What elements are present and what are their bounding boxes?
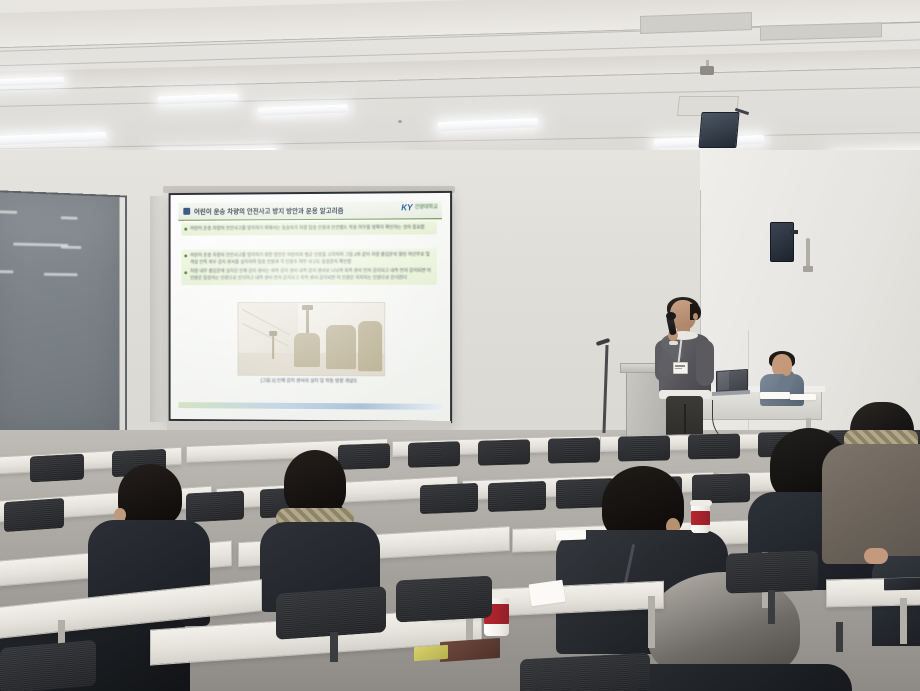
lecture-hall-photo: 어린이 운송 차량의 안전사고 방지 방안과 운용 알고리즘 KY 건양대학교 … (0, 0, 920, 691)
desk-leg (648, 596, 655, 648)
projection-screen: 어린이 운송 차량의 안전사고 방지 방안과 운용 알고리즘 KY 건양대학교 … (169, 191, 452, 423)
paper[interactable] (529, 580, 566, 607)
logo-mark: KY (401, 203, 412, 212)
speaker-bracket (790, 230, 798, 234)
wall-speaker-icon (770, 222, 794, 262)
slide-title: 어린이 운송 차량의 안전사고 방지 방안과 운용 알고리즘 (194, 206, 344, 216)
bullet-dot-icon (184, 255, 187, 258)
session-chair-person (754, 352, 816, 414)
ceiling-light (158, 94, 238, 105)
cup-lid (690, 500, 712, 506)
university-logo: KY 건양대학교 (401, 203, 438, 212)
whiteboard (0, 192, 120, 448)
screen-bottom-bar (167, 421, 451, 430)
logo-name: 건양대학교 (415, 205, 438, 210)
presenter-watch (669, 341, 678, 345)
presenter-shoulder (696, 340, 714, 386)
figure-seat (358, 321, 382, 371)
figure-sensor (302, 305, 313, 310)
chair[interactable] (618, 435, 670, 461)
chair[interactable] (4, 498, 64, 532)
chair[interactable] (396, 575, 492, 622)
slide-bullet-panel: 어린이 운송 차량의 안전사고를 방지하기 위한 방안은 어린이의 평균 신장을… (181, 248, 437, 284)
slide-bullet-panel: 어린이 운송 차량의 안전사고를 방지하기 위해서는 동승자가 차량 탑승 인원… (181, 221, 437, 235)
audience-person (262, 450, 392, 600)
paper (790, 394, 816, 400)
slide-bullet: 어린이 운송 차량의 안전사고를 방지하기 위한 방안은 어린이의 평균 신장을… (184, 252, 433, 266)
bullet-dot-icon (184, 228, 187, 231)
notebook[interactable] (414, 645, 448, 661)
person-hand (864, 548, 888, 564)
notebook[interactable] (884, 578, 920, 591)
coffee-cup[interactable] (690, 500, 712, 534)
figure-sensor (269, 331, 277, 336)
chair-post (330, 632, 338, 662)
slide-footer-bar (178, 402, 442, 410)
screen-shadow (150, 196, 166, 422)
paper (760, 392, 790, 399)
chair[interactable] (408, 441, 460, 468)
chair[interactable] (688, 434, 740, 460)
ceiling-light (258, 104, 348, 115)
chair[interactable] (488, 481, 546, 512)
notebook[interactable] (440, 638, 500, 662)
person-hand (782, 366, 791, 376)
figure-sensor-post (272, 333, 274, 359)
slide-bullet: 어린이 운송 차량의 안전사고를 방지하기 위해서는 동승자가 차량 탑승 인원… (184, 224, 433, 232)
cup-sleeve (691, 511, 710, 525)
slide-marker-icon (183, 208, 190, 215)
slide-figure (237, 302, 385, 376)
slide-figure-caption: [그림 2] 인체 감지 센서의 설치 및 작동 방향 개념도 (178, 377, 442, 384)
bullet-dot-icon (184, 271, 187, 274)
microphone-head (666, 312, 676, 320)
figure-seat (294, 333, 320, 367)
chair-post (836, 622, 843, 652)
wall-pipe-cap (803, 266, 813, 272)
presenter-ear (693, 313, 698, 320)
slide-bullet: 차량 내부 출입문에 설치된 인체 감지 센서는 외측 감지 센서 내측 감지 … (184, 268, 433, 282)
paper[interactable] (556, 529, 586, 540)
chair[interactable] (548, 437, 600, 463)
badge-text-line (675, 368, 682, 369)
ceiling-speaker-icon (698, 112, 739, 148)
badge-text-line (675, 365, 685, 367)
desk-leg (900, 598, 907, 644)
slide-bullet-text: 어린이 운송 차량의 안전사고를 방지하기 위해서는 동승자가 차량 탑승 인원… (190, 224, 424, 232)
chair[interactable] (420, 483, 478, 514)
presenter (646, 300, 720, 446)
ceiling-light (0, 132, 106, 145)
projector-icon (700, 66, 714, 75)
chair-post (768, 590, 775, 624)
chair[interactable] (0, 640, 96, 691)
ceiling-light (438, 118, 538, 131)
presentation-slide: 어린이 운송 차량의 안전사고 방지 방안과 운용 알고리즘 KY 건양대학교 … (178, 201, 442, 409)
audience-person (826, 408, 920, 558)
person-body (822, 444, 920, 564)
slide-bullet-text: 차량 내부 출입문에 설치된 인체 감지 센서는 외측 감지 센서 내측 감지 … (190, 268, 433, 282)
chair[interactable] (30, 454, 84, 483)
chair[interactable] (726, 550, 818, 593)
figure-seat (326, 325, 356, 369)
chair[interactable] (478, 439, 530, 465)
slide-bullet-text: 어린이 운송 차량의 안전사고를 방지하기 위한 방안은 어린이의 평균 신장을… (190, 252, 433, 266)
chair[interactable] (520, 653, 650, 691)
person-hair (118, 464, 182, 526)
